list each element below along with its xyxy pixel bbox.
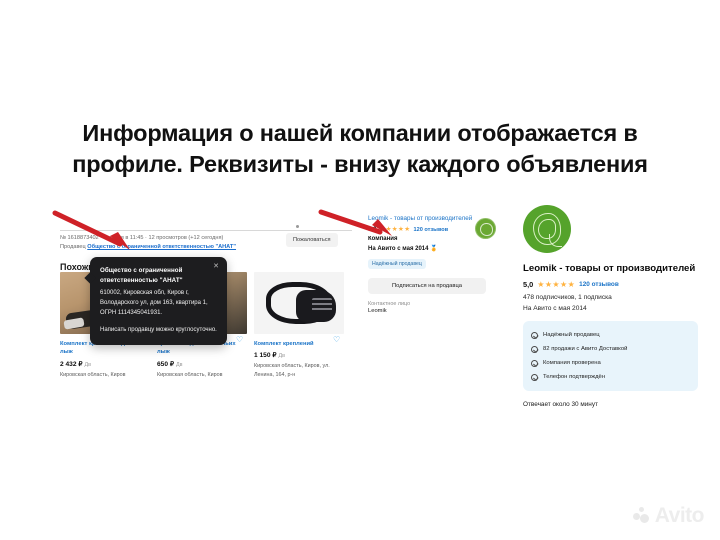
product-price-value: 650 ₽ bbox=[157, 361, 174, 368]
contact-person-label: Контактное лицо bbox=[368, 301, 488, 307]
profile-badge-label: 82 продажи с Авито Доставкой bbox=[543, 346, 627, 352]
profile-rating-row: 5,0 ★★★★★ 120 отзывов bbox=[523, 280, 698, 289]
tooltip-company-name: Общество с ограниченной ответственностью… bbox=[100, 266, 217, 286]
profile-since: На Авито с мая 2014 bbox=[523, 305, 698, 312]
page-title: Информация о нашей компании отображается… bbox=[46, 118, 674, 180]
product-price-value: 2 432 ₽ bbox=[60, 361, 83, 368]
product-delivery-badge: Дв bbox=[176, 362, 183, 368]
profile-badge-label: Надёжный продавец bbox=[543, 332, 600, 338]
profile-badge-label: Компания проверена bbox=[543, 360, 601, 366]
tooltip-company-address: 610002, Кировская обл, Киров г, Володарс… bbox=[100, 288, 217, 318]
product-price: 650 ₽Дв bbox=[157, 360, 243, 368]
medal-icon: 🏅 bbox=[430, 246, 437, 252]
profile-review-count[interactable]: 120 отзывов bbox=[579, 281, 619, 288]
subscribe-button[interactable]: Подписаться на продавца bbox=[368, 278, 486, 294]
profile-rating-value: 5,0 bbox=[523, 280, 533, 289]
profile-title: Leomik - товары от производителей bbox=[523, 262, 698, 275]
tooltip-note: Написать продавцу можно круглосуточно. bbox=[100, 325, 217, 335]
product-image-3[interactable] bbox=[254, 272, 344, 334]
product-card[interactable]: Комплект креплений для лыж 2 432 ₽Дв Кир… bbox=[60, 340, 146, 379]
avatar bbox=[523, 205, 571, 253]
product-price: 2 432 ₽Дв bbox=[60, 360, 146, 368]
annotation-arrow-left bbox=[52, 210, 142, 252]
ski-vent-shape bbox=[312, 298, 332, 312]
avito-logo-icon bbox=[633, 507, 651, 525]
product-delivery-badge: Дв bbox=[279, 353, 286, 359]
product-card[interactable]: Крепления для охотничьих лыж 650 ₽Дв Кир… bbox=[157, 340, 243, 379]
ski-clip-shape bbox=[63, 317, 84, 329]
profile-badge-item: 82 продажи с Авито Доставкой bbox=[531, 342, 690, 356]
profile-reply-time: Отвечает около 30 минут bbox=[523, 401, 698, 408]
phone-check-icon bbox=[531, 374, 538, 381]
profile-badge-item: Компания проверена bbox=[531, 356, 690, 370]
avito-watermark-text: Avito bbox=[655, 505, 704, 526]
check-circle-icon bbox=[531, 360, 538, 367]
product-delivery-badge: Дв bbox=[85, 362, 92, 368]
product-price: 1 150 ₽Дв bbox=[254, 351, 340, 359]
contact-person-value: Leomik bbox=[368, 308, 488, 314]
page-title-line-2: профиле. Реквизиты - внизу каждого объяв… bbox=[46, 149, 674, 180]
delivery-box-icon bbox=[531, 346, 538, 353]
seller-since: На Авито с мая 2014 bbox=[368, 246, 428, 252]
check-circle-icon bbox=[531, 332, 538, 339]
profile-badge-item: Телефон подтверждён bbox=[531, 370, 690, 384]
profile-badge-item: Надёжный продавец bbox=[531, 328, 690, 342]
page-title-line-1: Информация о нашей компании отображается… bbox=[46, 118, 674, 149]
close-icon[interactable]: ✕ bbox=[213, 263, 219, 270]
page-root: Информация о нашей компании отображается… bbox=[0, 0, 720, 540]
product-geo: Кировская область, Киров bbox=[60, 371, 146, 379]
annotation-arrow-right bbox=[318, 208, 408, 242]
seller-trusted-badge: Надёжный продавец bbox=[368, 259, 426, 269]
profile-badge-label: Телефон подтверждён bbox=[543, 374, 605, 380]
horse-logo-icon bbox=[533, 213, 561, 245]
profile-followers: 478 подписчиков, 1 подписка bbox=[523, 294, 698, 301]
seller-avatar-small[interactable] bbox=[475, 218, 496, 239]
company-details-tooltip: ✕ Общество с ограниченной ответственност… bbox=[90, 257, 227, 345]
star-rating-icon: ★★★★★ bbox=[537, 281, 575, 289]
product-title[interactable]: Комплект креплений bbox=[254, 340, 340, 348]
seller-since-row: На Авито с мая 2014 🏅 bbox=[368, 245, 488, 252]
listing-dot bbox=[296, 225, 299, 228]
product-price-value: 1 150 ₽ bbox=[254, 352, 277, 359]
profile-card: Leomik - товары от производителей 5,0 ★★… bbox=[523, 205, 698, 408]
product-card[interactable]: Комплект креплений 1 150 ₽Дв Кировская о… bbox=[254, 340, 340, 379]
product-geo: Кировская область, Киров, ул. Ленина, 16… bbox=[254, 362, 340, 378]
seller-review-count[interactable]: 120 отзывов bbox=[413, 227, 448, 233]
avito-watermark: Avito bbox=[633, 505, 704, 526]
profile-badge-list: Надёжный продавец 82 продажи с Авито Дос… bbox=[523, 321, 698, 391]
product-geo: Кировская область, Киров bbox=[157, 371, 243, 379]
